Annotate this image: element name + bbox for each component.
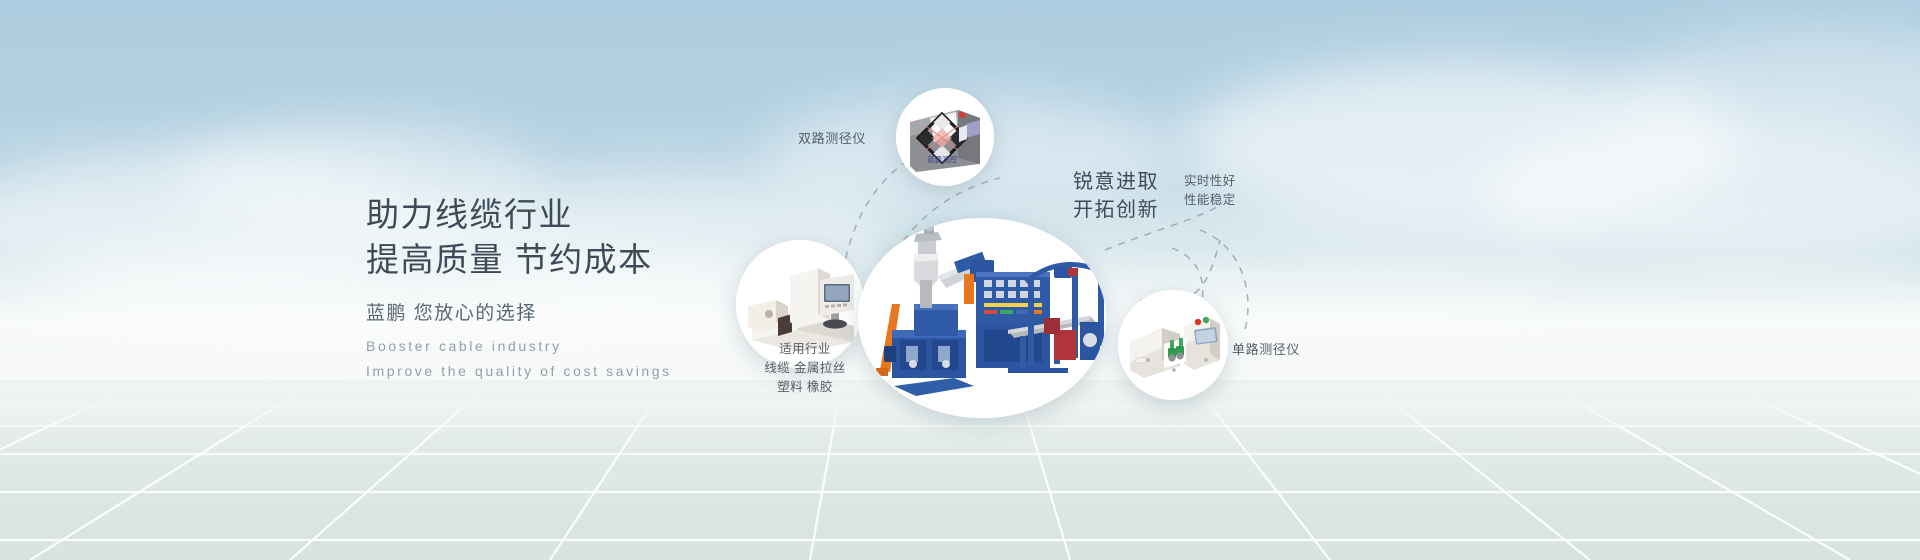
indicator-lamp-icon bbox=[1203, 317, 1209, 323]
slogan-block: 锐意进取 开拓创新 bbox=[1073, 168, 1159, 224]
bubble-single-gauge[interactable] bbox=[1118, 290, 1228, 400]
slogan-line-1: 锐意进取 bbox=[1073, 168, 1159, 196]
bubble-extrusion-line[interactable] bbox=[858, 218, 1106, 418]
label-features-block: 实时性好 性能稳定 bbox=[1184, 172, 1236, 210]
single-gauge-image bbox=[1118, 290, 1228, 400]
slogan-line-2: 开拓创新 bbox=[1073, 196, 1159, 224]
bubble-dual-gauge[interactable]: 蓝鹏测控 bbox=[896, 88, 994, 186]
label-single-gauge: 单路测径仪 bbox=[1232, 340, 1300, 359]
indicator-lamp-icon bbox=[959, 112, 965, 118]
feature-line-1: 实时性好 bbox=[1184, 172, 1236, 191]
indicator-lamp-icon bbox=[1195, 319, 1201, 325]
feature-line-2: 性能稳定 bbox=[1184, 191, 1236, 210]
hero-banner: 助力线缆行业 提高质量 节约成本 蓝鹏 您放心的选择 Booster cable… bbox=[0, 0, 1920, 560]
brand-label: 蓝鹏测控 bbox=[927, 154, 957, 164]
label-dual-gauge: 双路测径仪 bbox=[798, 129, 866, 148]
product-composition: 蓝鹏测控 双路测径仪 bbox=[700, 0, 1920, 560]
extrusion-line-image bbox=[858, 218, 1106, 418]
dual-gauge-image: 蓝鹏测控 bbox=[896, 88, 994, 186]
